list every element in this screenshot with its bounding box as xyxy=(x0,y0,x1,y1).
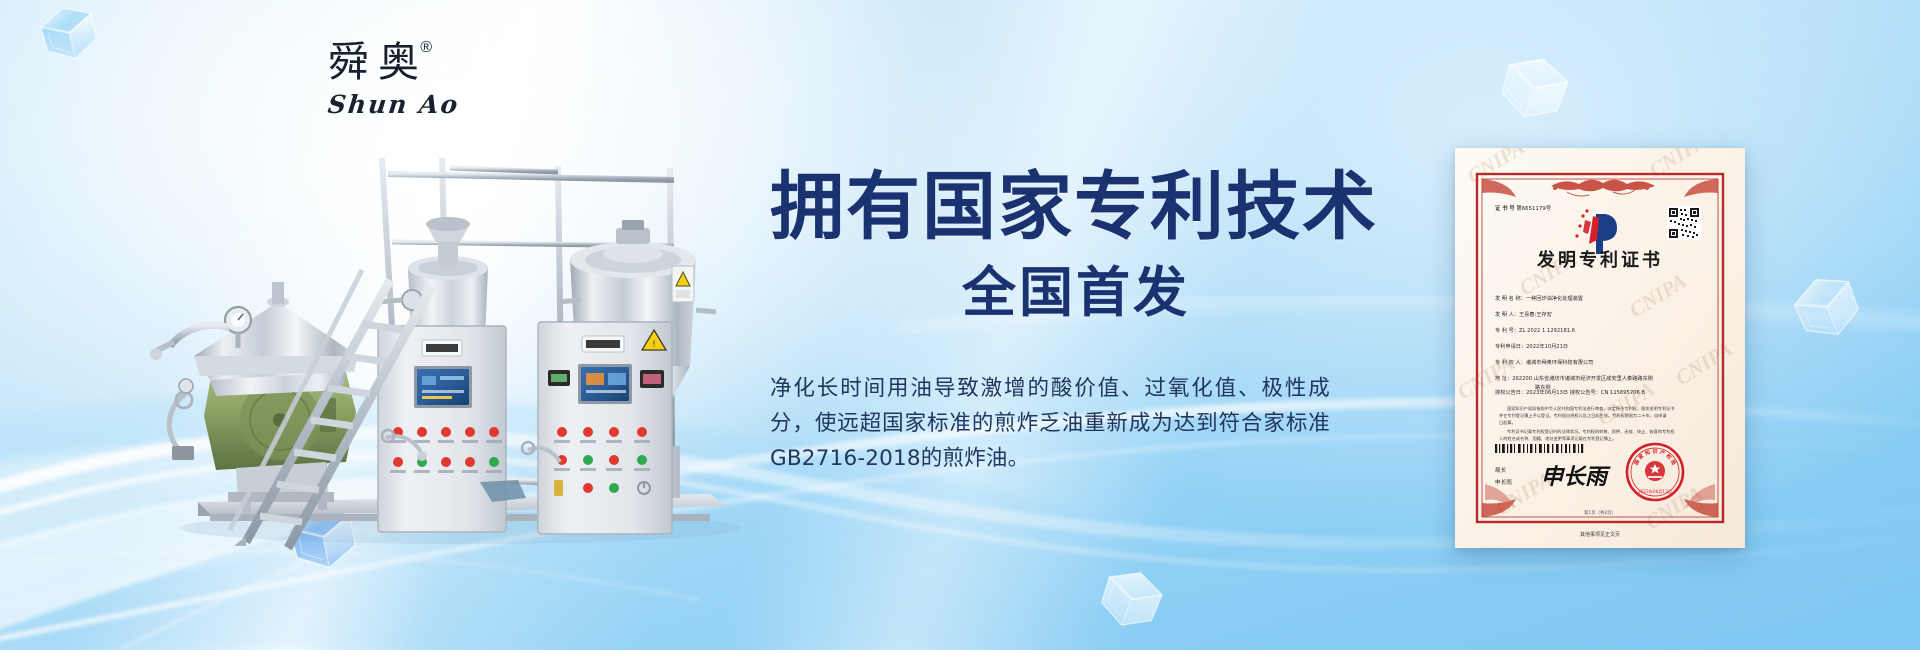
body-paragraph: 净化长时间用油导致激增的酸价值、过氧化值、极性成分，使远超国家标准的煎炸乏油重新… xyxy=(770,372,1330,476)
brand-logo: 舜奥 ® Shun Ao xyxy=(328,42,478,134)
certificate-paragraph-1-line-0: 专利证书记载专利权登记时的法律状况。专利权的转移、质押、无效、终止、恢复和专利权 xyxy=(1507,428,1675,435)
registered-trademark-icon: ® xyxy=(420,39,432,57)
certificate-title: 发明专利证书 xyxy=(1536,249,1663,271)
svg-text:!: ! xyxy=(652,340,656,350)
certificate-field-2: 专 利 号：ZL 2022 1 1292181.6 xyxy=(1495,326,1575,334)
certificate-page-note: 第1页（共2页） xyxy=(1584,509,1616,516)
marketing-copy-block: 拥有国家专利技术 全国首发 净化长时间用油导致激增的酸价值、过氧化值、极性成分，… xyxy=(770,170,1410,476)
oil-purification-machine-illustration: ! xyxy=(150,150,770,550)
hmi-touchscreen xyxy=(417,369,469,405)
certificate-field-1: 发 明 人：王喜春;王存宏 xyxy=(1495,310,1552,318)
svg-text:2023年06月13日: 2023年06月13日 xyxy=(1638,488,1672,495)
certificate-field-0: 发 明 名 称：一种回炸油净化处理装置 xyxy=(1495,294,1583,302)
svg-text:证 书 号 第6651179号: 证 书 号 第6651179号 xyxy=(1495,204,1552,212)
logo-chinese-text: 舜奥 xyxy=(328,38,428,86)
director-name: 申长雨 xyxy=(1495,478,1512,486)
logo-english-text: Shun Ao xyxy=(326,90,479,119)
director-signature: 申长雨 xyxy=(1541,464,1611,490)
certificate-field-4: 专 利 权 人：诸城市舜奥环保科技有限公司 xyxy=(1495,358,1593,366)
page-title: 拥有国家专利技术 xyxy=(770,170,1410,244)
director-label: 局长 xyxy=(1495,466,1507,474)
certificate-paragraph-0-line-0: 国家知识产权局依照中华人民共和国专利法进行审查，决定授予专利权，颁发发明专利证书 xyxy=(1507,405,1675,412)
certificate-paragraph-0-line-2: 日起算。 xyxy=(1499,419,1516,426)
certificate-paragraph-0-line-1: 并在专利登记簿上予以登记。专利权自授权公告之日起生效。专利权期限为二十年，自申请 xyxy=(1499,412,1667,419)
certificate-paragraph-1-line-1: 人的姓名或名称、国籍、地址变更等事项记载在专利登记簿上。 xyxy=(1499,435,1616,442)
certificate-field-3: 专利申请日：2022年10月21日 xyxy=(1495,342,1568,350)
certificate-footer-note: 其他事项见正文页 xyxy=(1580,531,1620,538)
qr-code xyxy=(1667,206,1701,240)
page-subtitle: 全国首发 xyxy=(770,266,1410,320)
patent-certificate: CNIPA CNIPA CNIPA CNIPA CNIPA CNIPA CNIP… xyxy=(1455,148,1745,548)
certificate-grant-line: 授权公告日：2023年06月13日 授权公告号：CN 115895706 B xyxy=(1495,388,1645,396)
control-panel-right: ! xyxy=(538,322,672,534)
certificate-field-5: 地 址：262200 山东省潍坊市诸城市经济开发区咸安里人泰路路东侧 xyxy=(1495,374,1653,382)
svg-text:识: 识 xyxy=(1652,448,1657,455)
promo-banner: 舜奥 ® Shun Ao xyxy=(0,0,1920,650)
warning-label-icon xyxy=(672,266,694,302)
certificate-artwork: CNIPA CNIPA CNIPA CNIPA CNIPA CNIPA CNIP… xyxy=(1455,148,1745,548)
